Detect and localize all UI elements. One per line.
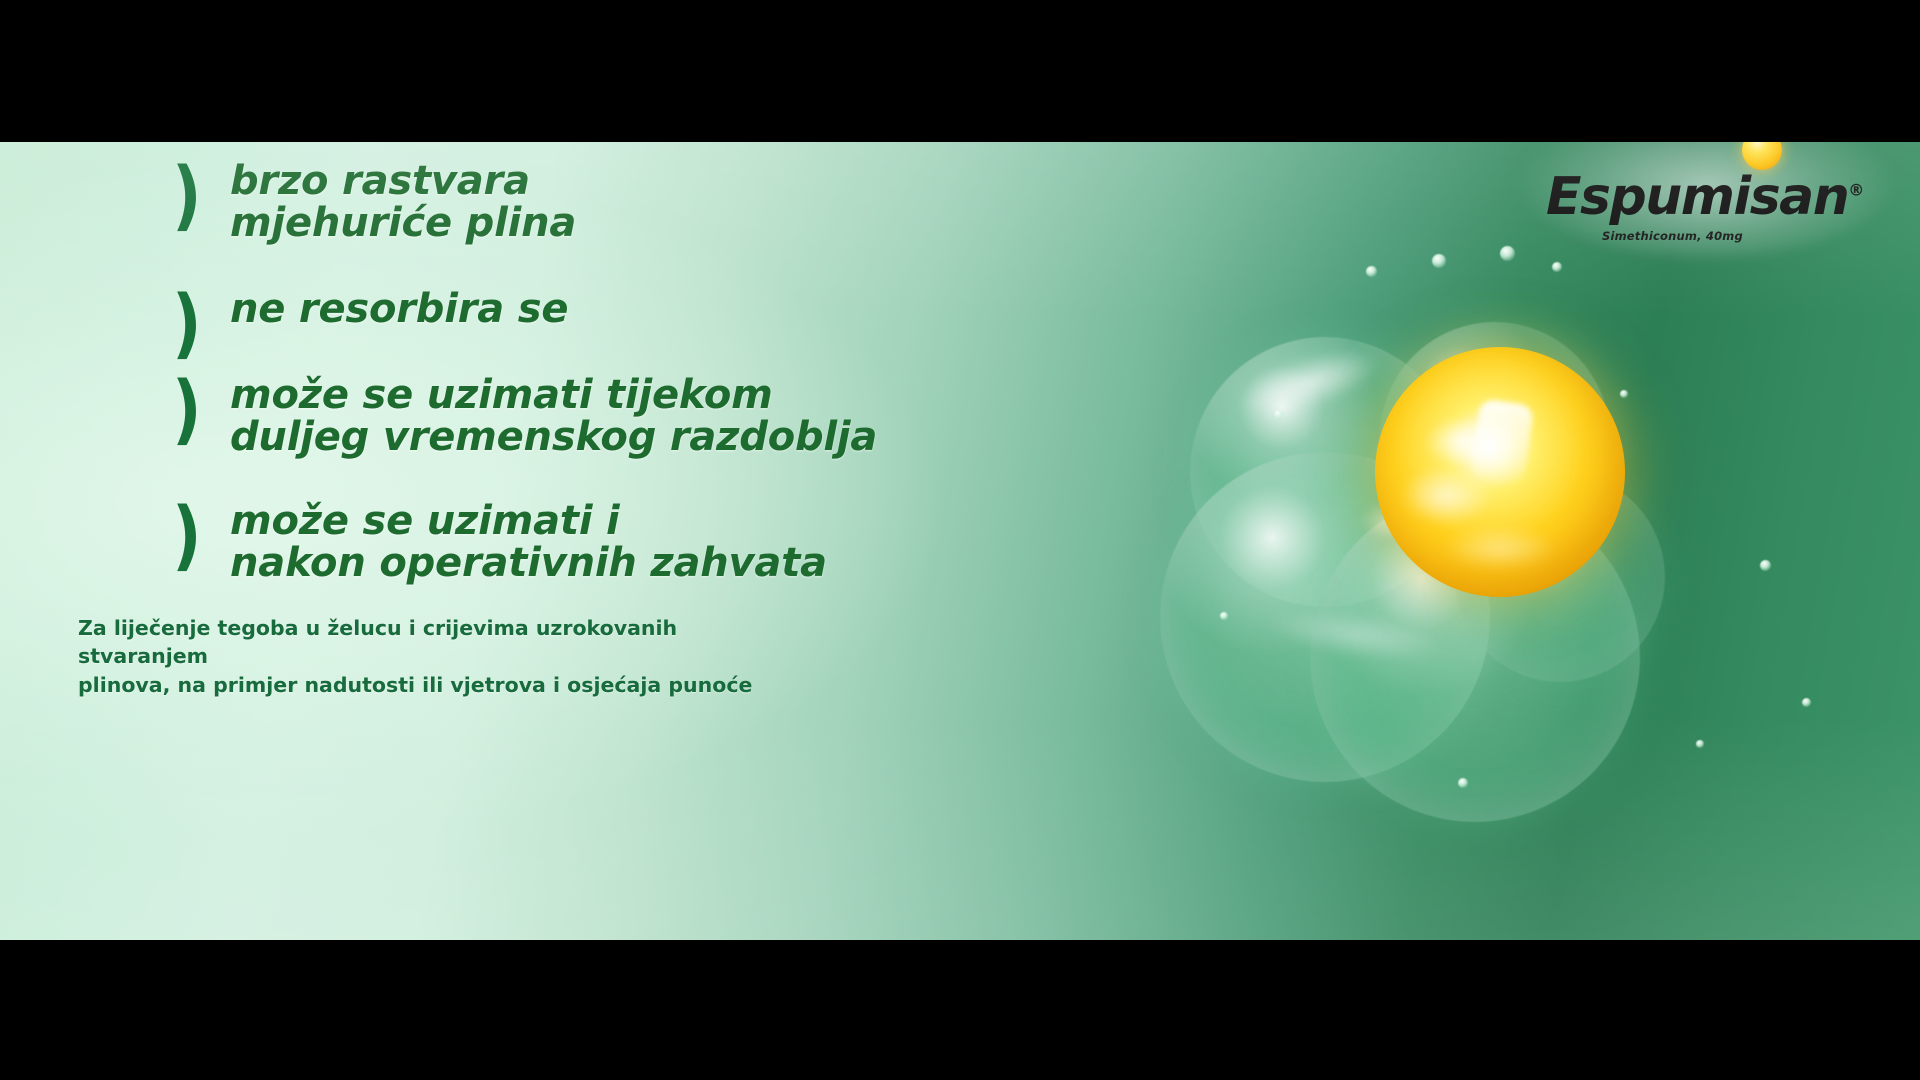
indication-footnote: Za liječenje tegoba u želucu i crijevima… [78,614,778,699]
list-item: ) brzo rastvara mjehuriće plina [172,160,576,244]
particle-bubble-icon [1552,262,1562,272]
list-item: ) može se uzimati i nakon operativnih za… [172,500,827,584]
list-item-label: može se uzimati tijekom duljeg vremensko… [230,374,877,458]
bullet-marker-icon: ) [172,288,201,358]
particle-bubble-icon [1802,698,1811,707]
particle-bubble-icon [1620,390,1628,398]
particle-bubble-icon [1366,266,1377,277]
particle-bubble-icon [1432,254,1446,268]
yellow-bubble-icon [1375,347,1625,597]
brand-subtitle: Simethiconum, 40mg [1602,229,1743,243]
particle-bubble-icon [1760,560,1771,571]
video-frame-stage: ) brzo rastvara mjehuriće plina ) ne res… [0,0,1920,1080]
particle-bubble-icon [1458,778,1468,788]
particle-bubble-icon [1500,246,1515,261]
core-highlight-3 [1400,467,1492,525]
list-item-label: brzo rastvara mjehuriće plina [230,160,576,244]
list-item: ) može se uzimati tijekom duljeg vremens… [172,374,877,458]
particle-bubble-icon [1696,740,1704,748]
particle-bubble-icon [1274,410,1283,419]
bullet-marker-icon: ) [172,374,201,444]
bullet-marker-icon: ) [172,160,201,230]
bullet-marker-icon: ) [172,500,201,570]
particle-bubble-icon [1220,612,1228,620]
letterbox-bottom [0,940,1920,1080]
letterbox-top [0,0,1920,142]
brand-name: Espumisan [1546,167,1848,227]
list-item: ) ne resorbira se [172,288,568,358]
list-item-label: ne resorbira se [230,288,568,330]
bubble-cluster-graphic [1060,142,1920,940]
core-highlight-4 [1445,527,1555,569]
brand-wordmark: Espumisan® [1546,171,1876,223]
registered-mark: ® [1848,181,1864,200]
advertisement-content: ) brzo rastvara mjehuriće plina ) ne res… [0,142,1920,940]
list-item-label: može se uzimati i nakon operativnih zahv… [230,500,827,584]
espumisan-logo: Espumisan® Simethiconum, 40mg [1546,142,1876,247]
